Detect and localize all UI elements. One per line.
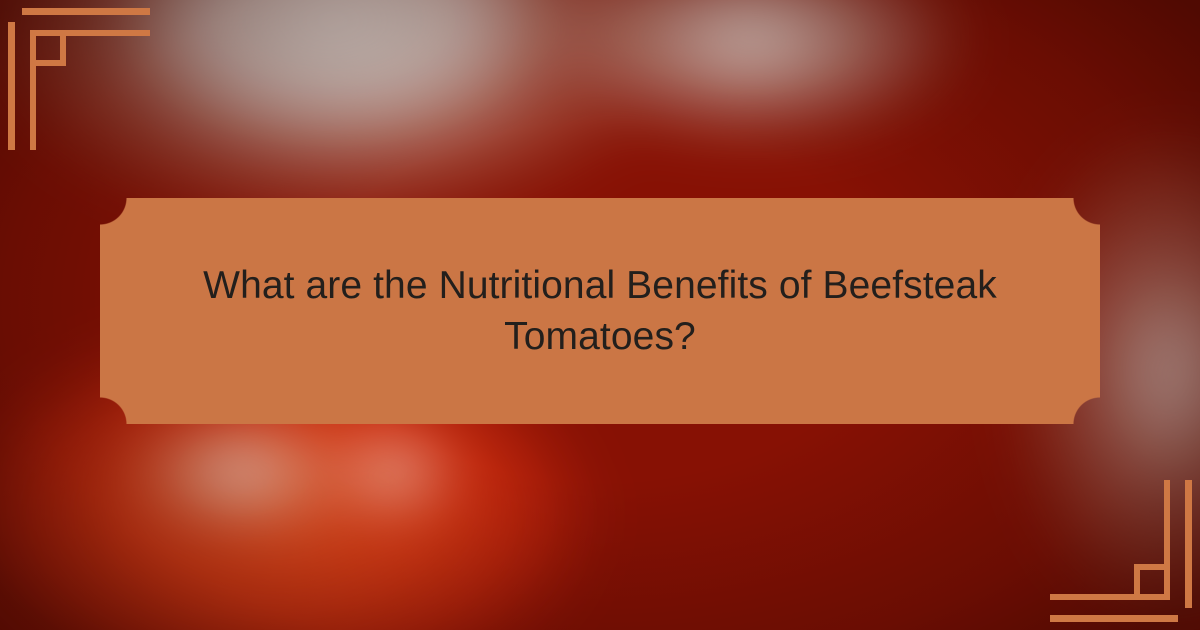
corner-ornament-top-left [0,0,150,150]
ornament-square-bottom [30,60,66,66]
banner-stage: What are the Nutritional Benefits of Bee… [0,0,1200,630]
ornament-line-horizontal-outer [1050,615,1178,622]
ornament-line-vertical-outer [1185,480,1192,608]
page-title: What are the Nutritional Benefits of Bee… [100,260,1100,363]
ornament-line-horizontal-outer [22,8,150,15]
ornament-line-vertical-outer [8,22,15,150]
corner-ornament-bottom-right [1050,480,1200,630]
title-card: What are the Nutritional Benefits of Bee… [100,198,1100,424]
ornament-square-bottom [1134,564,1170,570]
